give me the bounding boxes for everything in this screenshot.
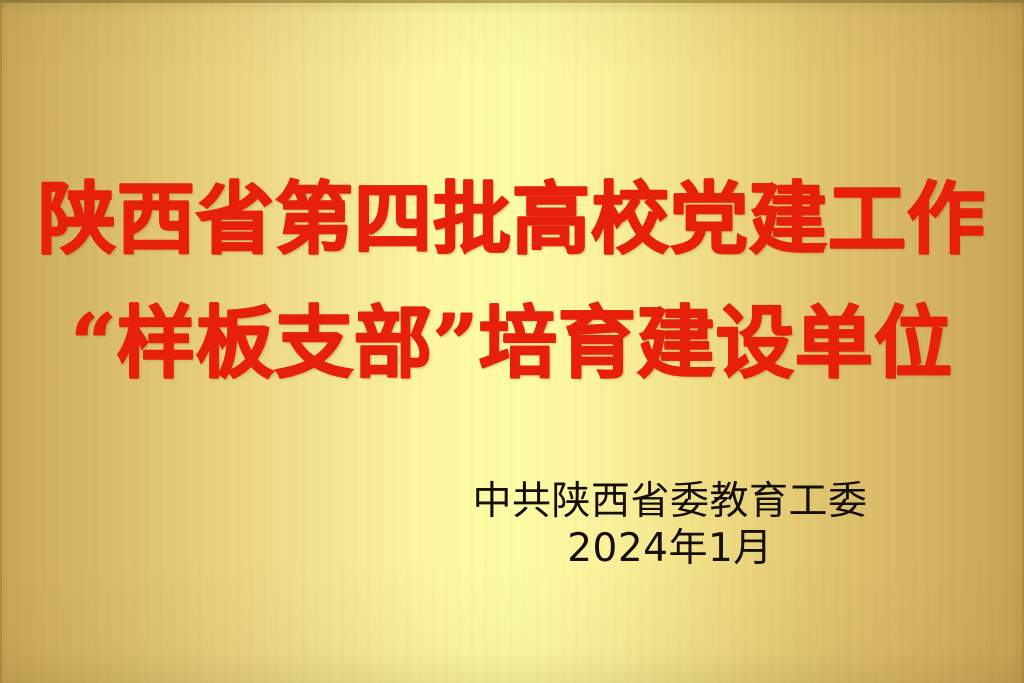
issue-date: 2024年1月: [440, 525, 900, 572]
plaque-signature: 中共陕西省委教育工委 2024年1月: [440, 478, 900, 572]
plaque-title: 陕西省第四批高校党建工作 “样板支部”培育建设单位: [0, 168, 1024, 396]
award-plaque: 陕西省第四批高校党建工作 “样板支部”培育建设单位 中共陕西省委教育工委 202…: [0, 0, 1024, 683]
plaque-title-line-1: 陕西省第四批高校党建工作: [0, 168, 1024, 272]
plaque-top-edge-line: [0, 0, 1024, 3]
plaque-title-line-2: “样板支部”培育建设单位: [0, 292, 1024, 396]
issuing-organization: 中共陕西省委教育工委: [440, 478, 900, 525]
